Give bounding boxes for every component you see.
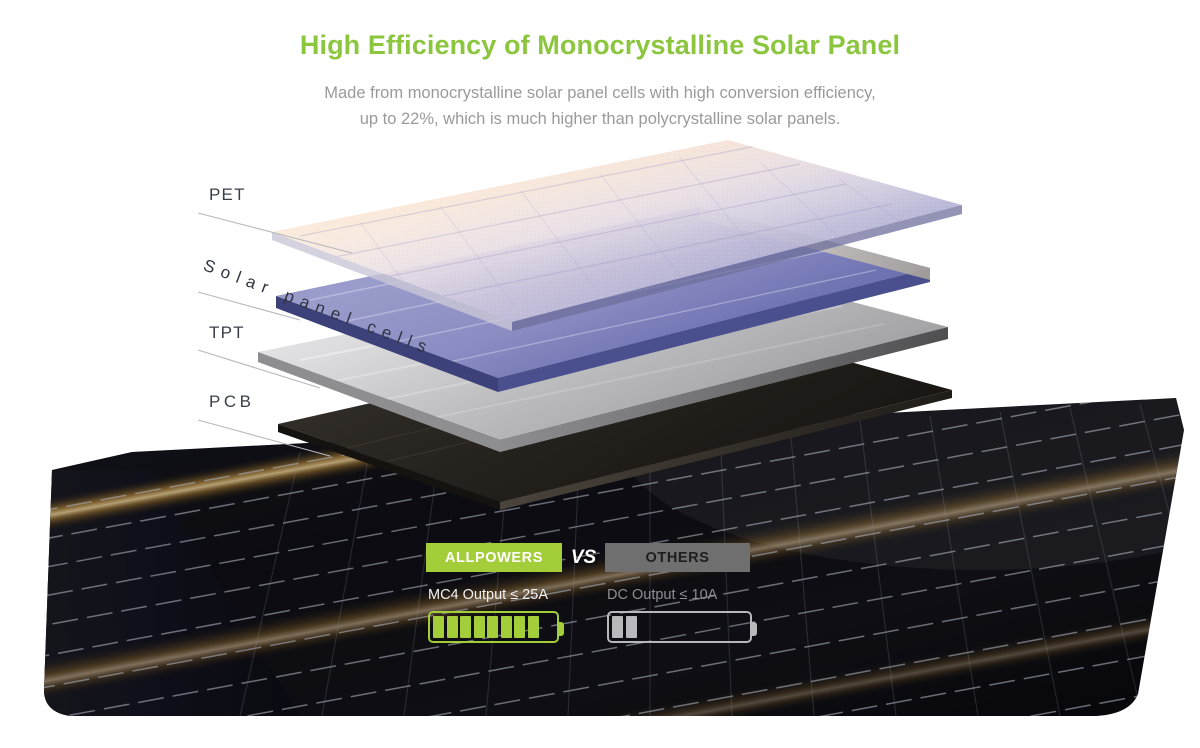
battery-bar [433,616,444,638]
battery-bar [528,616,539,638]
subtitle-line-2: up to 22%, which is much higher than pol… [0,106,1200,132]
spec-text-others: DC Output ≤ 10A [607,587,752,603]
battery-bar [460,616,471,638]
badge-allpowers: ALLPOWERS [426,543,562,572]
comparison-badges: ALLPOWERS VS OTHERS [426,543,756,572]
layer-label-pcb: PCB [209,392,254,412]
spec-allpowers: MC4 Output ≤ 25A [428,587,559,643]
comparison-block: ALLPOWERS VS OTHERS MC4 Output ≤ 25A [426,543,756,653]
subtitle-line-1: Made from monocrystalline solar panel ce… [0,80,1200,106]
battery-bar [626,616,637,638]
spec-others: DC Output ≤ 10A [607,587,752,643]
infographic-canvas: High Efficiency of Monocrystalline Solar… [0,0,1200,748]
spec-text-allpowers: MC4 Output ≤ 25A [428,587,559,603]
badge-others: OTHERS [605,543,750,572]
layer-label-tpt: TPT [209,323,245,343]
battery-bar [612,616,623,638]
battery-allpowers [428,611,559,643]
battery-bar [487,616,498,638]
page-subtitle: Made from monocrystalline solar panel ce… [0,80,1200,132]
battery-bar [501,616,512,638]
battery-cap-icon [558,622,564,636]
page-title: High Efficiency of Monocrystalline Solar… [0,30,1200,61]
battery-cap-icon [751,622,757,636]
battery-bar [514,616,525,638]
layer-label-pet: PET [209,185,246,205]
battery-others [607,611,752,643]
battery-body-others [607,611,752,643]
battery-bar [474,616,485,638]
battery-bar [447,616,458,638]
battery-body-allpowers [428,611,559,643]
vs-label: VS [562,543,605,572]
